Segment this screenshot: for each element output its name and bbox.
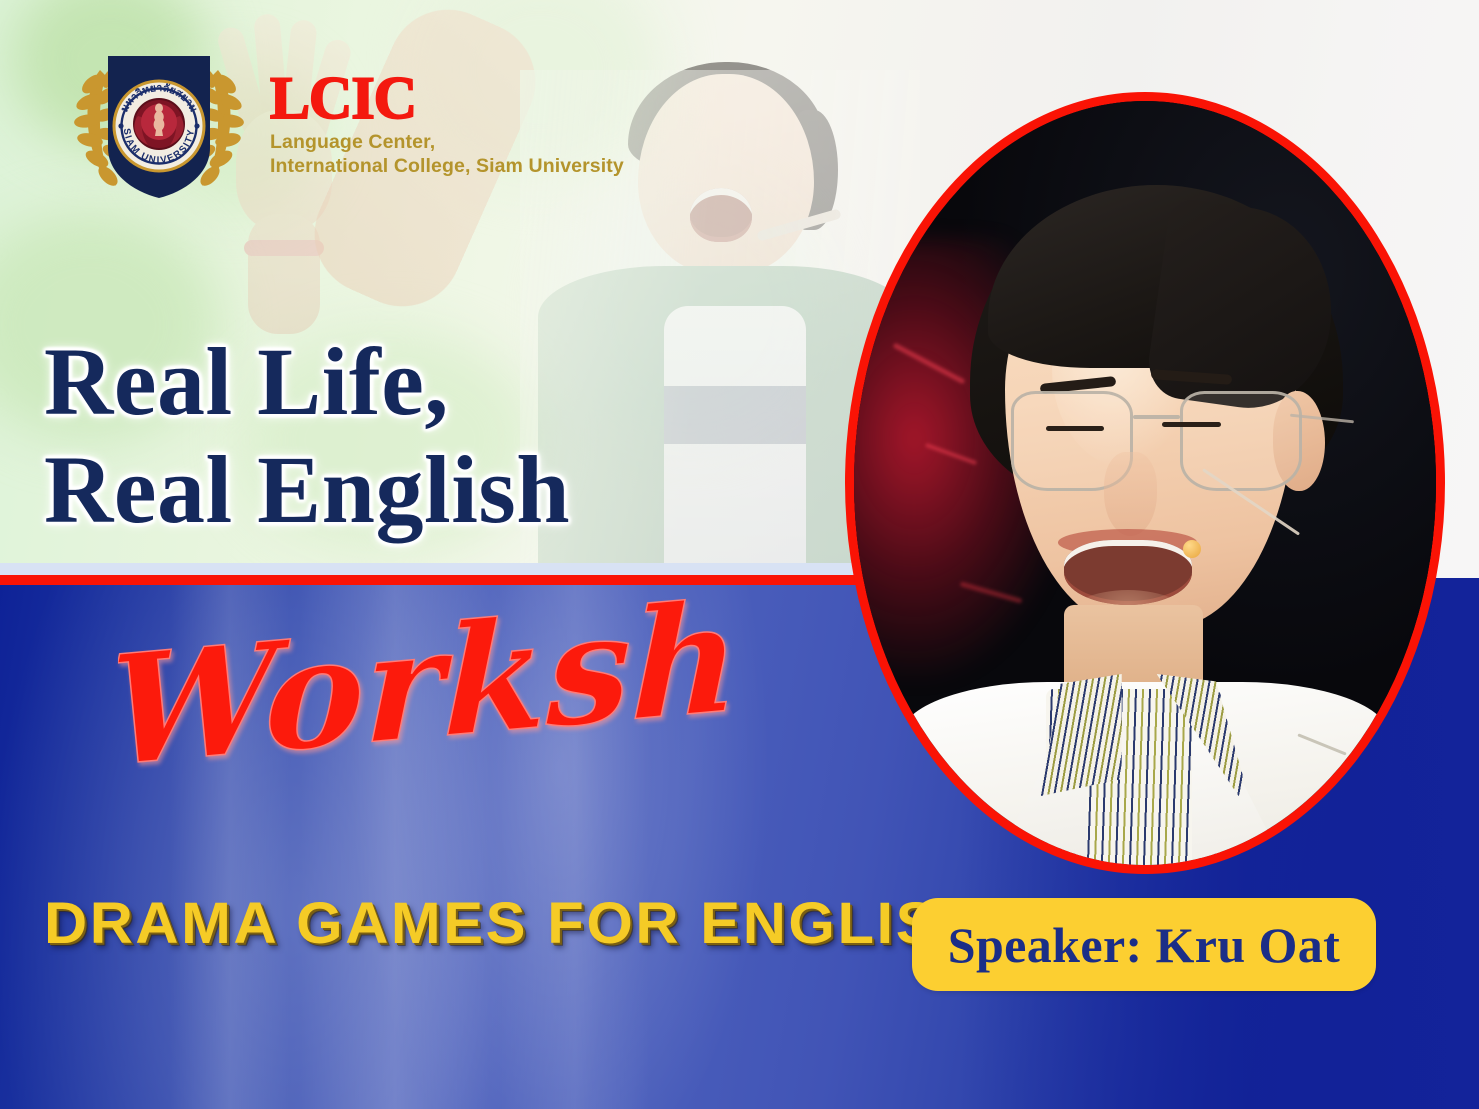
lcic-subtitle: Language Center, International College, … [270,130,624,179]
eyeglasses-icon [1011,391,1302,490]
lcic-subtitle-line2: International College, Siam University [270,154,624,179]
event-poster: มหาวิทยาลัยสยาม SIAM UNIVERSITY [0,0,1479,1109]
speaker-badge: Speaker: Kru Oat [912,898,1376,991]
workshop-script-word: Workshop [118,595,738,825]
lcic-logo-block: มหาวิทยาลัยสยาม SIAM UNIVERSITY [66,52,624,200]
workshop-text: Workshop [118,595,738,801]
lcic-subtitle-line1: Language Center, [270,130,624,155]
poster-title: Real Life, Real English [44,328,570,543]
mic-capsule-icon [1183,540,1201,558]
lcic-acronym: LCIC [270,71,624,126]
title-line-1: Real Life, [44,328,449,435]
divider-red-stripe [0,575,900,585]
speaker-portrait [845,92,1445,874]
siam-university-crest-icon: มหาวิทยาลัยสยาม SIAM UNIVERSITY [66,52,252,200]
speaker-badge-label: Speaker: Kru Oat [948,916,1340,974]
poster-subtitle: DRAMA GAMES FOR ENGLISH [44,895,984,953]
lcic-wordmark: LCIC Language Center, International Coll… [270,71,624,180]
title-line-2: Real English [44,436,570,544]
